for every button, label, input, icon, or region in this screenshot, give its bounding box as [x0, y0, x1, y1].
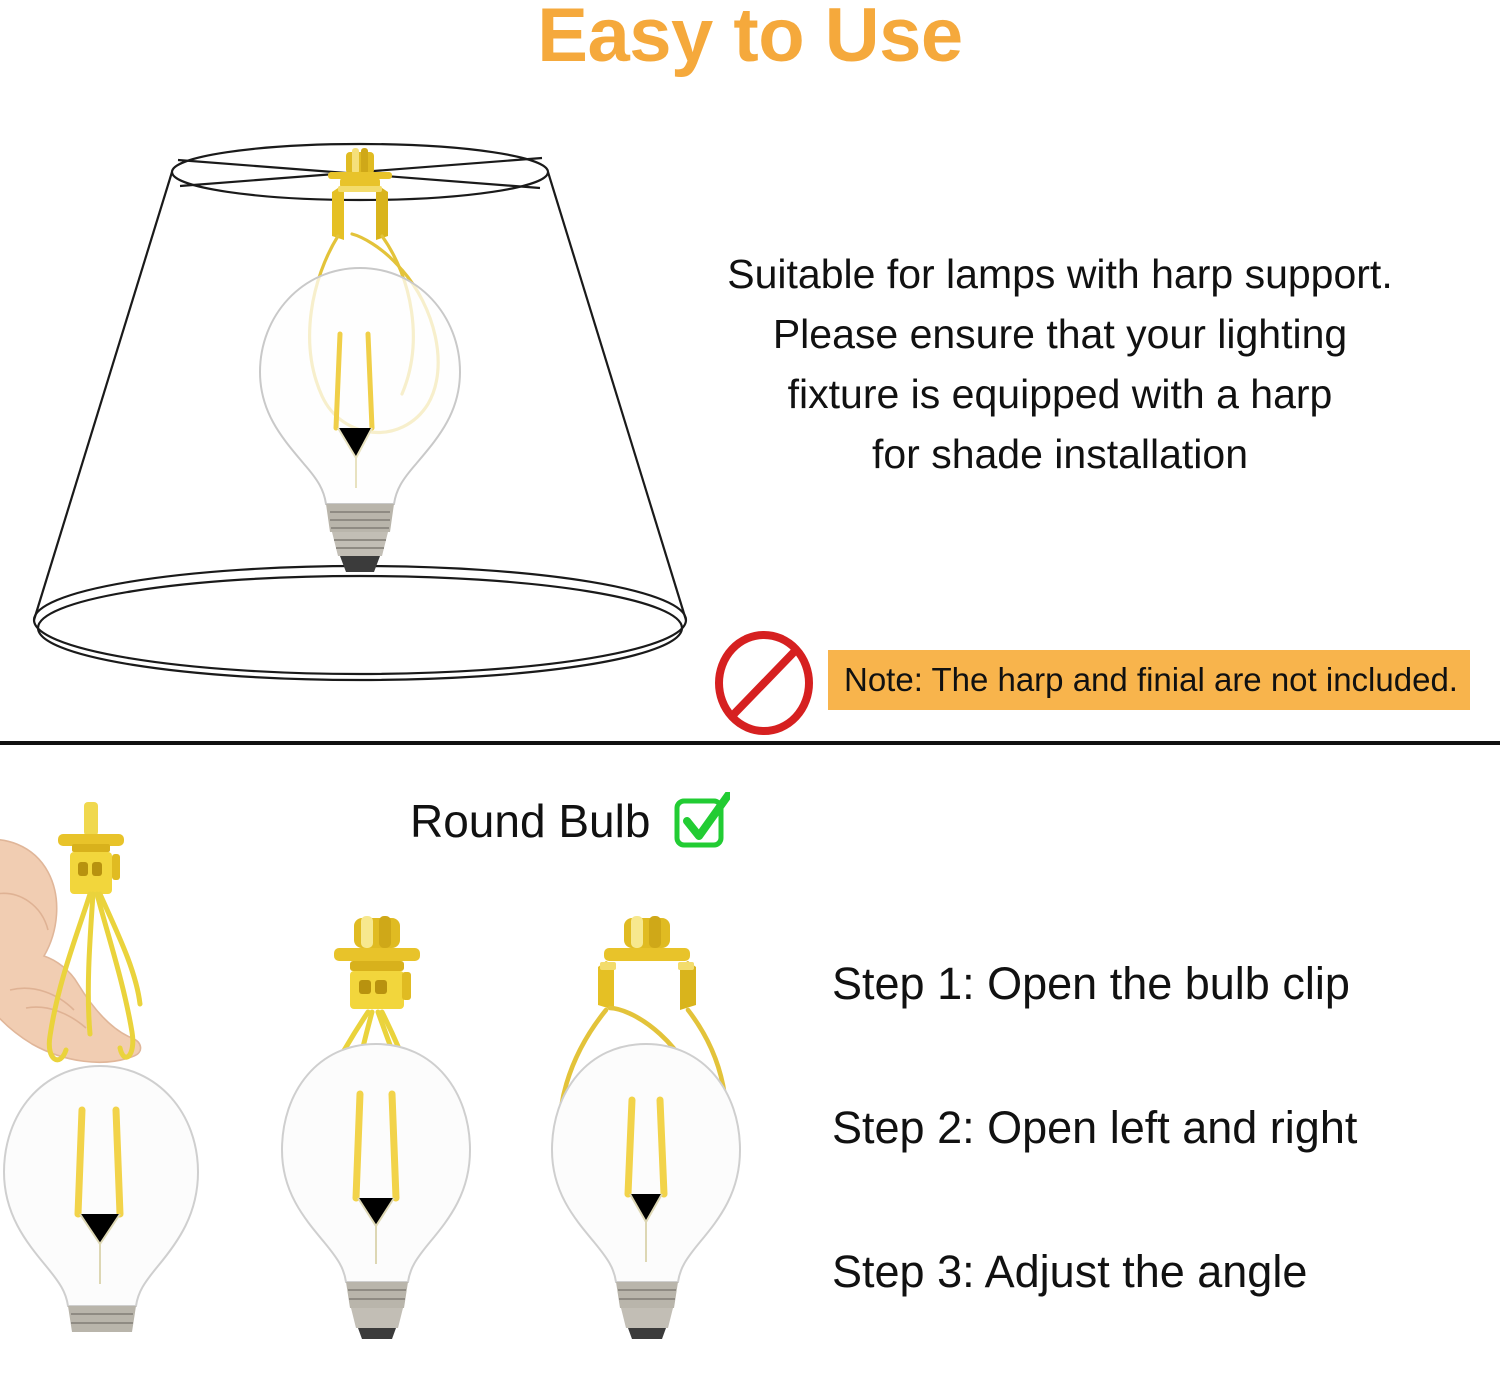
- finial-illustration: [328, 148, 392, 179]
- step-item-2: Step 2: Open left and right: [832, 1105, 1472, 1249]
- step-1-illustration: [0, 794, 256, 1339]
- intro-line-2: Please ensure that your lighting: [660, 305, 1460, 365]
- note-banner: Note: The harp and finial are not includ…: [828, 650, 1470, 710]
- clip-illustration: [58, 802, 124, 894]
- bulb-illustration: [260, 268, 460, 572]
- green-check-icon: [672, 792, 730, 850]
- bulb-illustration: [4, 1066, 198, 1332]
- page-title: Easy to Use: [0, 0, 1500, 74]
- intro-text: Suitable for lamps with harp support. Pl…: [660, 245, 1460, 484]
- lampshade-illustration: [20, 128, 700, 698]
- step-item-1: Step 1: Open the bulb clip: [832, 961, 1472, 1105]
- bottom-section: Round Bulb: [0, 746, 1500, 1336]
- step-item-3: Step 3: Adjust the angle: [832, 1249, 1472, 1393]
- round-bulb-row: Round Bulb: [410, 792, 730, 850]
- step-3-illustration: [532, 904, 762, 1339]
- intro-line-4: for shade installation: [660, 425, 1460, 485]
- steps-list: Step 1: Open the bulb clip Step 2: Open …: [832, 961, 1472, 1393]
- step-2-illustration: [262, 904, 492, 1339]
- note-text: Note: The harp and finial are not includ…: [844, 661, 1458, 699]
- round-bulb-label: Round Bulb: [410, 794, 650, 848]
- bulb-illustration: [282, 1044, 470, 1339]
- clip-illustration: [334, 916, 420, 1009]
- bulb-clip-illustration: [332, 178, 388, 240]
- top-section: Easy to Use: [0, 0, 1500, 742]
- intro-line-1: Suitable for lamps with harp support.: [660, 245, 1460, 305]
- bulb-illustration: [552, 1044, 740, 1339]
- note-row: Note: The harp and finial are not includ…: [712, 628, 1482, 740]
- section-divider: [0, 741, 1500, 745]
- clip-illustration: [598, 916, 696, 1010]
- no-entry-icon: [712, 630, 816, 736]
- intro-line-3: fixture is equipped with a harp: [660, 365, 1460, 425]
